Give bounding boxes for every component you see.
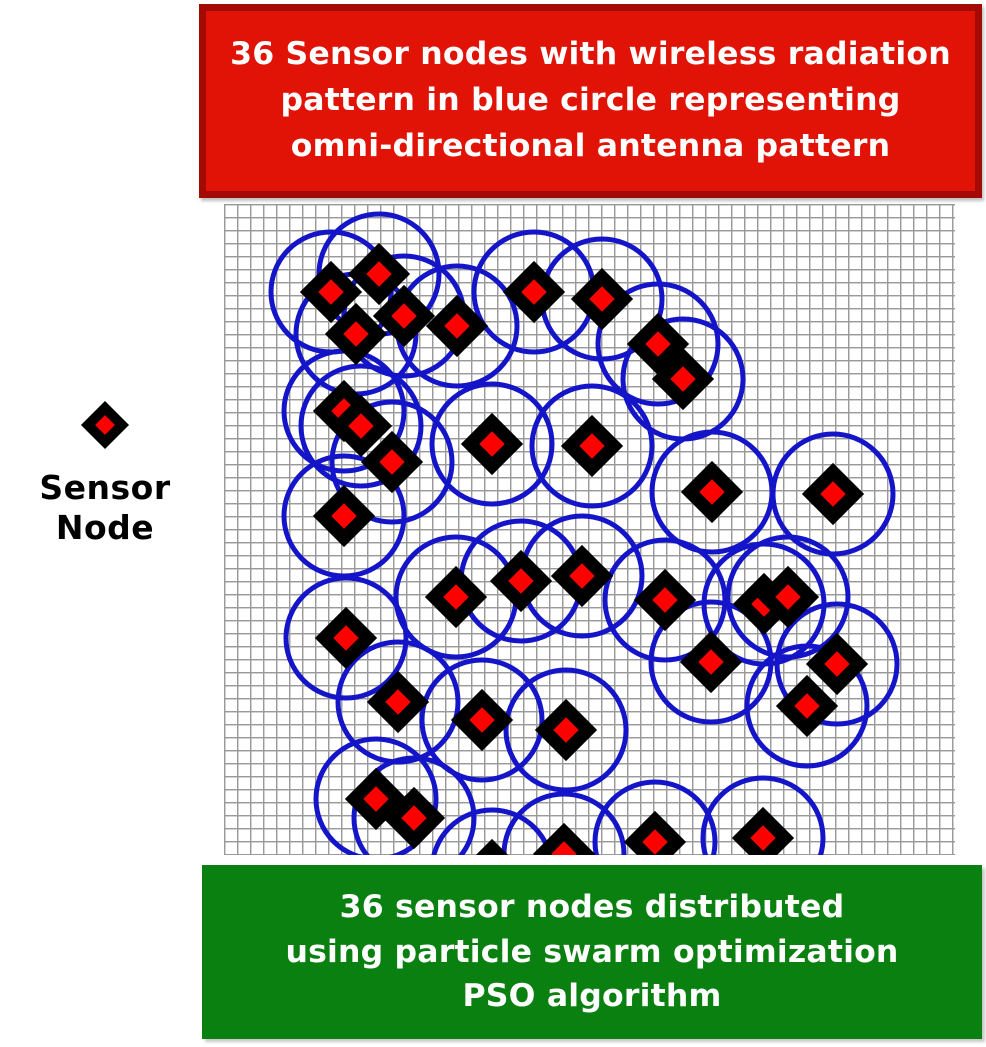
legend: Sensor Node — [14, 408, 196, 549]
sensor-node-diamond-icon — [81, 401, 129, 449]
sensor-node-core-icon — [95, 415, 115, 435]
figure-canvas: 36 Sensor nodes with wireless radiation … — [0, 0, 986, 1047]
banner-top-description: 36 Sensor nodes with wireless radiation … — [199, 4, 982, 198]
sensor-node-marker — [425, 566, 487, 628]
sensor-node-marker — [571, 268, 633, 330]
sensor-deployment-plot — [224, 204, 955, 855]
legend-label: Sensor Node — [39, 468, 170, 549]
sensor-node-marker — [561, 415, 623, 477]
sensor-node-marker — [624, 811, 686, 855]
banner-bottom-text: 36 sensor nodes distributed using partic… — [275, 885, 908, 1019]
sensor-node-marker — [732, 807, 794, 855]
sensor-node-marker — [461, 413, 523, 475]
sensor-node-marker — [503, 261, 565, 323]
sensor-node-marker — [802, 463, 864, 525]
sensor-node-marker — [426, 295, 488, 357]
sensor-node-marker — [490, 550, 552, 612]
banner-bottom-caption: 36 sensor nodes distributed using partic… — [202, 865, 982, 1039]
sensor-node-marker — [313, 485, 375, 547]
legend-label-line1: Sensor — [39, 468, 170, 507]
banner-top-text: 36 Sensor nodes with wireless radiation … — [216, 32, 965, 169]
plot-svg — [224, 204, 955, 855]
sensor-node-marker — [315, 607, 377, 669]
legend-label-line2: Node — [56, 508, 154, 547]
sensor-node-marker — [535, 699, 597, 761]
sensor-node-marker — [680, 631, 742, 693]
sensor-node-marker — [681, 461, 743, 523]
